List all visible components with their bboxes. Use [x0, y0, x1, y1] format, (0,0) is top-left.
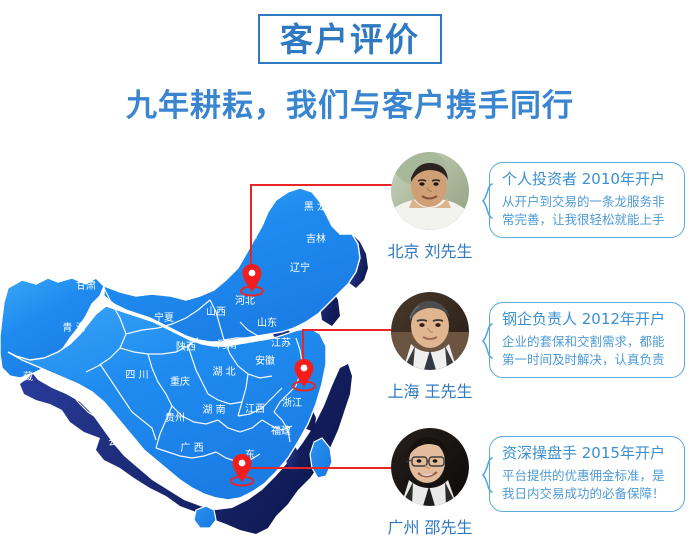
testimonial-guangzhou: 广州 邵先生 资深操盘手 2015年开户 平台提供的优惠佣金标准，是 我日内交易…: [0, 0, 700, 550]
quote-headline: 资深操盘手 2015年开户: [502, 444, 674, 463]
avatar-shao: [391, 428, 469, 506]
quote-body: 平台提供的优惠佣金标准，是 我日内交易成功的必备保障！: [502, 467, 674, 503]
page-root: 客户评价 九年耕耘，我们与客户携手同行: [0, 0, 700, 550]
quote-bubble-guangzhou: 资深操盘手 2015年开户 平台提供的优惠佣金标准，是 我日内交易成功的必备保障…: [489, 436, 685, 512]
bubble-tail-icon: [481, 457, 492, 491]
person-name: 广州 邵先生: [365, 514, 495, 538]
